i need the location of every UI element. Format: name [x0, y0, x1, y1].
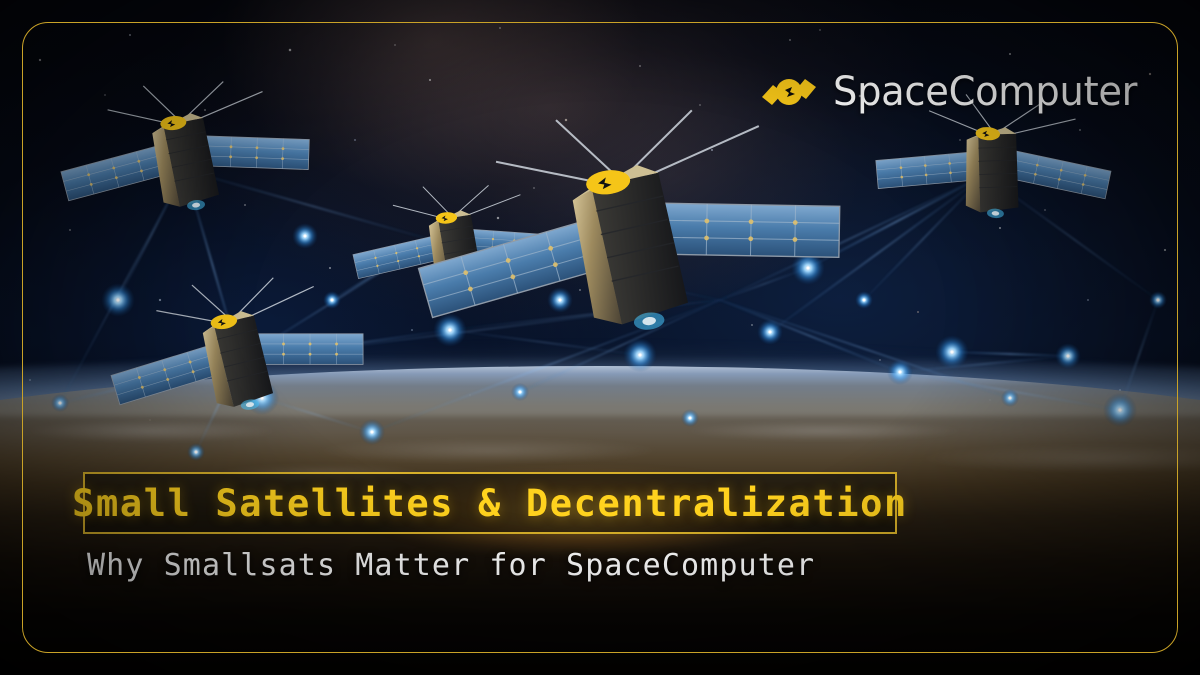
- mesh-node-core: [1009, 397, 1012, 400]
- satellite-smallsat-4: [394, 82, 865, 397]
- brand-logo[interactable]: SpaceComputer: [759, 70, 1150, 114]
- mesh-node-core: [371, 431, 374, 434]
- hero-title: Small Satellites & Decentralization: [72, 482, 908, 525]
- mesh-node-core: [59, 402, 62, 405]
- satellite-smallsat-1: [48, 67, 323, 248]
- mesh-link: [900, 356, 1068, 372]
- mesh-node-core: [195, 451, 198, 454]
- mesh-node-core: [1157, 299, 1160, 302]
- mesh-node-core: [1119, 409, 1122, 412]
- mesh-node-core: [519, 391, 522, 394]
- hero-subtitle: Why Smallsats Matter for SpaceComputer: [87, 548, 815, 583]
- hero-title-box: Small Satellites & Decentralization: [83, 472, 897, 534]
- mesh-node-core: [899, 371, 902, 374]
- mesh-link: [1120, 300, 1158, 410]
- brand-wordmark: SpaceComputer: [833, 72, 1137, 112]
- spacecomputer-satellite-mark: [759, 70, 819, 114]
- mesh-node-core: [1067, 355, 1070, 358]
- hero-banner: SpaceComputer Small Satellites & Decentr…: [0, 0, 1200, 675]
- mesh-link: [952, 352, 1068, 356]
- mesh-node-core: [304, 235, 307, 238]
- mesh-node-core: [951, 351, 954, 354]
- mesh-node-core: [863, 299, 866, 302]
- mesh-node-core: [689, 417, 692, 420]
